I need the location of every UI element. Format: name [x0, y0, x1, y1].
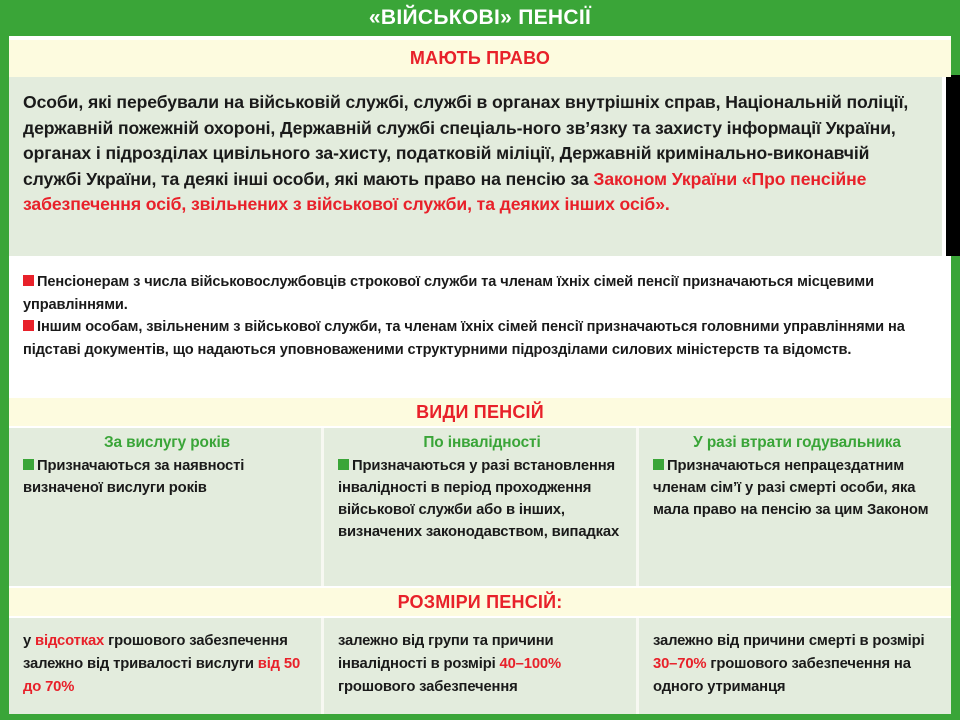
pension-amount-column-length-of-service: у відсотках грошового забезпечення залеж… — [9, 618, 324, 714]
pension-amount-column-disability: залежно від групи та причини інвалідност… — [324, 618, 639, 714]
column-body: Призначаються у разі встановлення інвалі… — [338, 455, 626, 543]
pension-amounts-columns: у відсотках грошового забезпечення залеж… — [9, 618, 951, 714]
column-body-text: Призначаються у разі встановлення інвалі… — [338, 458, 619, 540]
column-title: У разі втрати годувальника — [653, 434, 941, 452]
left-green-rail — [0, 36, 9, 720]
amount-highlight1-1: 40–100% — [500, 656, 561, 672]
pension-types-columns: За вислугу років Призначаються за наявно… — [9, 428, 951, 586]
pension-amount-column-loss-of-breadwinner: залежно від причини смерті в розмірі 30–… — [639, 618, 951, 714]
amount-highlight1-0: відсотках — [35, 633, 104, 649]
note-item-2-text: Іншим особам, звільненим з військової сл… — [23, 319, 905, 358]
column-body-text: Призначаються за наявності визначеної ви… — [23, 458, 244, 496]
black-edge-bar — [946, 75, 960, 256]
amount-lead-0: у — [23, 633, 35, 649]
page-title: «ВІЙСЬКОВІ» ПЕНСІЇ — [0, 0, 960, 36]
red-square-bullet-icon — [23, 320, 34, 331]
infographic-page: «ВІЙСЬКОВІ» ПЕНСІЇ МАЮТЬ ПРАВО Особи, як… — [0, 0, 960, 720]
green-square-bullet-icon — [653, 459, 664, 470]
column-body: Призначаються непрацездатним членам сім’… — [653, 455, 941, 521]
amount-mid-1: грошового забезпечення — [338, 679, 518, 695]
entitlement-banner: МАЮТЬ ПРАВО — [9, 40, 951, 77]
column-body: Призначаються за наявності визначеної ви… — [23, 455, 311, 499]
amount-highlight1-2: 30–70% — [653, 656, 706, 672]
types-banner: ВИДИ ПЕНСІЙ — [9, 398, 951, 426]
pension-type-column-disability: По інвалідності Призначаються у разі вст… — [324, 428, 639, 586]
entitlement-paragraph: Особи, які перебували на військовій служ… — [23, 90, 928, 218]
note-item-1: Пенсіонерам з числа військовослужбовців … — [23, 271, 939, 316]
entitlement-panel: Особи, які перебували на військовій служ… — [9, 77, 942, 256]
pension-type-column-length-of-service: За вислугу років Призначаються за наявно… — [9, 428, 324, 586]
column-body: залежно від групи та причини інвалідност… — [338, 630, 626, 699]
note-item-1-text: Пенсіонерам з числа військовослужбовців … — [23, 274, 874, 313]
column-body: у відсотках грошового забезпечення залеж… — [23, 630, 311, 699]
pension-type-column-loss-of-breadwinner: У разі втрати годувальника Призначаються… — [639, 428, 951, 586]
column-title: За вислугу років — [23, 434, 311, 452]
note-item-2: Іншим особам, звільненим з військової сл… — [23, 316, 939, 361]
red-square-bullet-icon — [23, 275, 34, 286]
column-body: залежно від причини смерті в розмірі 30–… — [653, 630, 941, 699]
bottom-green-rule — [0, 714, 960, 720]
green-square-bullet-icon — [338, 459, 349, 470]
amounts-banner: РОЗМІРИ ПЕНСІЙ: — [9, 588, 951, 616]
column-body-text: Призначаються непрацездатним членам сім’… — [653, 458, 928, 518]
notes-panel: Пенсіонерам з числа військовослужбовців … — [9, 262, 951, 393]
amount-lead-2: залежно від причини смерті в розмірі — [653, 633, 924, 649]
green-square-bullet-icon — [23, 459, 34, 470]
column-title: По інвалідності — [338, 434, 626, 452]
